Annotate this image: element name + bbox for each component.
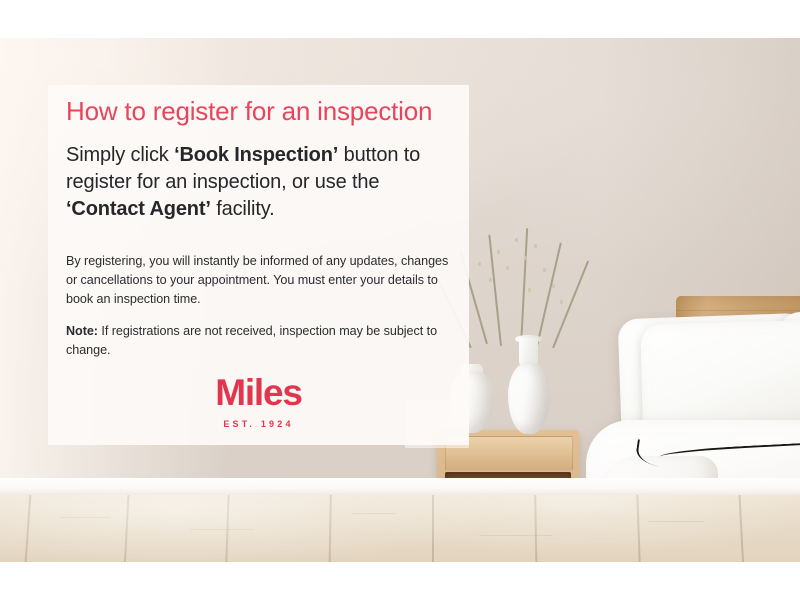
logo-wordmark: Miles — [48, 374, 469, 411]
logo-established: EST. 1924 — [48, 419, 469, 429]
wood-floor — [0, 495, 800, 562]
note-text: If registrations are not received, inspe… — [66, 324, 437, 357]
letterbox-top — [0, 0, 800, 38]
book-inspection-emphasis: ‘Book Inspection’ — [174, 144, 338, 166]
contact-agent-emphasis: ‘Contact Agent’ — [66, 198, 211, 220]
lead-text-1: Simply click — [66, 144, 174, 166]
note-paragraph: Note: If registrations are not received,… — [66, 322, 456, 360]
brand-logo: Miles EST. 1924 — [48, 374, 469, 429]
body-paragraph: By registering, you will instantly be in… — [66, 252, 456, 309]
vase-tall — [508, 362, 550, 434]
lead-text-3: facility. — [211, 198, 275, 220]
info-panel: How to register for an inspection Simply… — [48, 85, 469, 445]
note-label: Note: — [66, 324, 98, 338]
lead-paragraph: Simply click ‘Book Inspection’ button to… — [66, 142, 456, 222]
page-title: How to register for an inspection — [66, 97, 466, 127]
screenshot-canvas: How to register for an inspection Simply… — [0, 0, 800, 600]
letterbox-bottom — [0, 562, 800, 600]
